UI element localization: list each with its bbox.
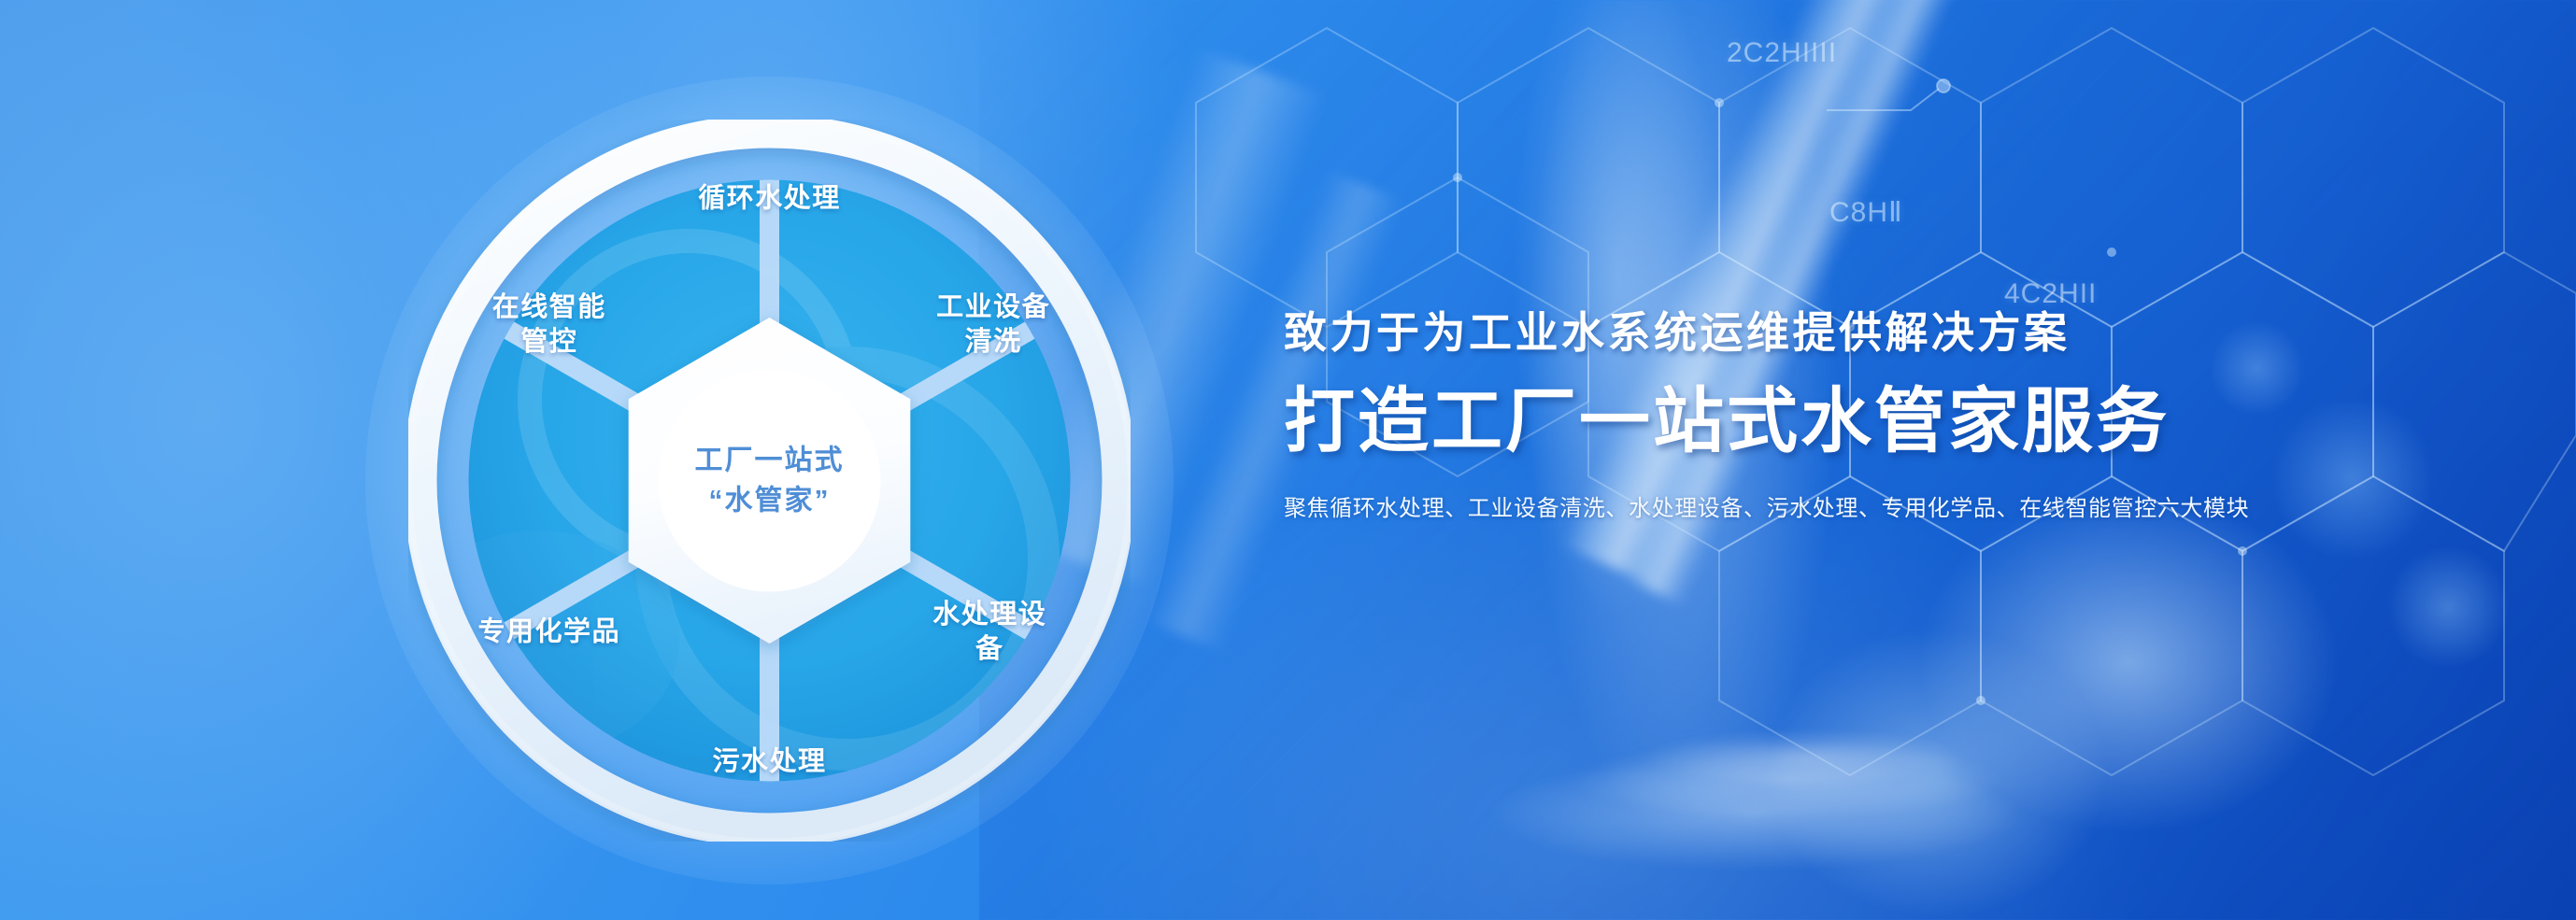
headline-main: 打造工厂一站式水管家服务 bbox=[1284, 382, 2517, 463]
service-wheel: 循环水处理 工业设备 清洗 水处理设备 污水处理 专用化学品 在线智能 管控 工… bbox=[408, 120, 1131, 842]
wheel-center-label: 工厂一站式 “水管家” bbox=[695, 440, 845, 521]
wheel-segment-equipment-cleaning[interactable]: 工业设备 清洗 bbox=[936, 290, 1050, 360]
background-water-ripple bbox=[1402, 640, 2242, 920]
hero-banner: 2C2HIIII C8HⅡ 4C2HII bbox=[0, 0, 2576, 920]
formula-label: 4C2HII bbox=[2004, 278, 2097, 310]
wheel-center-line2: “水管家” bbox=[695, 481, 845, 522]
wheel-segment-water-equipment[interactable]: 水处理设备 bbox=[919, 598, 1060, 667]
banner-tagline: 聚焦循环水处理、工业设备清洗、水处理设备、污水处理、专用化学品、在线智能管控六大… bbox=[1284, 493, 2517, 525]
formula-label: 2C2HIIII bbox=[1727, 37, 1837, 69]
banner-copy: 致力于为工业水系统运维提供解决方案 打造工厂一站式水管家服务 聚焦循环水处理、工… bbox=[1284, 308, 2517, 524]
wheel-segment-circulating-water[interactable]: 循环水处理 bbox=[698, 181, 841, 216]
headline-subtitle: 致力于为工业水系统运维提供解决方案 bbox=[1284, 308, 2517, 358]
formula-label: C8HⅡ bbox=[1829, 196, 1903, 229]
wheel-segment-sewage-treatment[interactable]: 污水处理 bbox=[712, 744, 826, 779]
wheel-segment-online-control[interactable]: 在线智能 管控 bbox=[492, 290, 606, 360]
wheel-center-line1: 工厂一站式 bbox=[695, 440, 845, 481]
wheel-segment-special-chemicals[interactable]: 专用化学品 bbox=[477, 615, 620, 649]
